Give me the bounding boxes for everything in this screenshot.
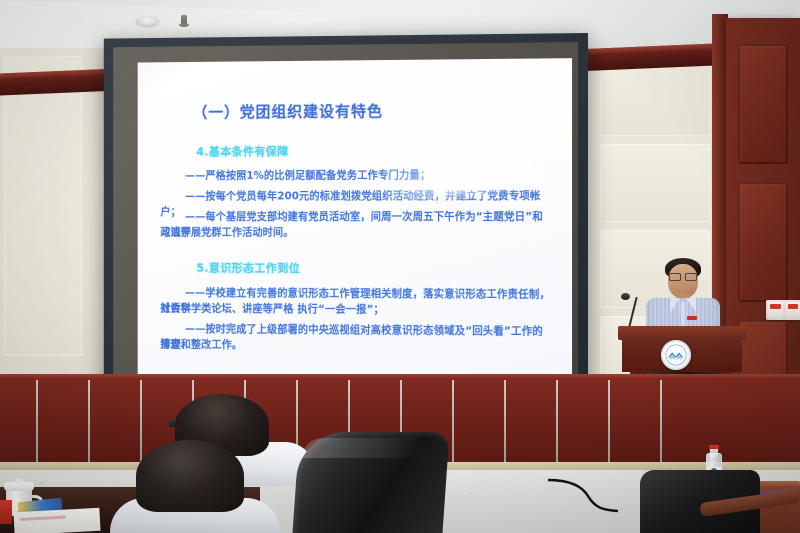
slide-bullet-cont: 排查和整改工作。 <box>160 338 552 356</box>
light-switch[interactable] <box>768 302 783 318</box>
slide-bullet-cont: 习或开展党群工作活动时间。 <box>160 226 552 242</box>
conference-room-photo: （一）党团组织建设有特色 4.基本条件有保障 ——严格按照1%的比例足额配备党务… <box>0 0 800 533</box>
wall-panel <box>4 56 82 356</box>
slide-bullet: ——严格按照1%的比例足额配备党务工作专门力量； <box>160 168 552 184</box>
slide-heading-5: 5.意识形态工作到位 <box>196 260 300 276</box>
projected-slide: （一）党团组织建设有特色 4.基本条件有保障 ——严格按照1%的比例足额配备党务… <box>138 58 572 398</box>
lapel-badge <box>687 316 697 320</box>
screen-bezel: （一）党团组织建设有特色 4.基本条件有保障 ——严格按照1%的比例足额配备党务… <box>113 42 578 396</box>
presenter <box>640 258 726 334</box>
chair-highlight <box>301 438 422 458</box>
audience-member-1 <box>110 440 270 533</box>
slide-heading-4: 4.基本条件有保障 <box>196 143 288 159</box>
documents-papers[interactable] <box>13 508 100 533</box>
red-box[interactable] <box>0 500 12 524</box>
collar-right <box>686 298 696 312</box>
slide-title: （一）党团组织建设有特色 <box>193 100 383 123</box>
eyeglasses-icon <box>669 273 697 279</box>
collar-left <box>670 298 680 312</box>
door-panel <box>738 182 788 302</box>
projection-screen: （一）党团组织建设有特色 4.基本条件有保障 ——严格按照1%的比例足额配备党务… <box>104 33 588 405</box>
cup-knob <box>15 478 23 484</box>
light-switch-plate[interactable] <box>766 300 800 320</box>
slide-bullet-cont: 社会科学类论坛、讲座等严格 执行“一会一报”； <box>160 302 552 320</box>
light-switch[interactable] <box>786 302 800 318</box>
sprinkler-icon <box>181 15 187 26</box>
downlight-icon <box>136 16 159 26</box>
presenter-head <box>668 264 698 298</box>
audience-head <box>136 440 244 512</box>
door-panel <box>738 44 788 164</box>
institution-emblem-icon <box>661 340 691 370</box>
microphone-icon <box>621 293 630 300</box>
wall-panel <box>600 144 710 222</box>
